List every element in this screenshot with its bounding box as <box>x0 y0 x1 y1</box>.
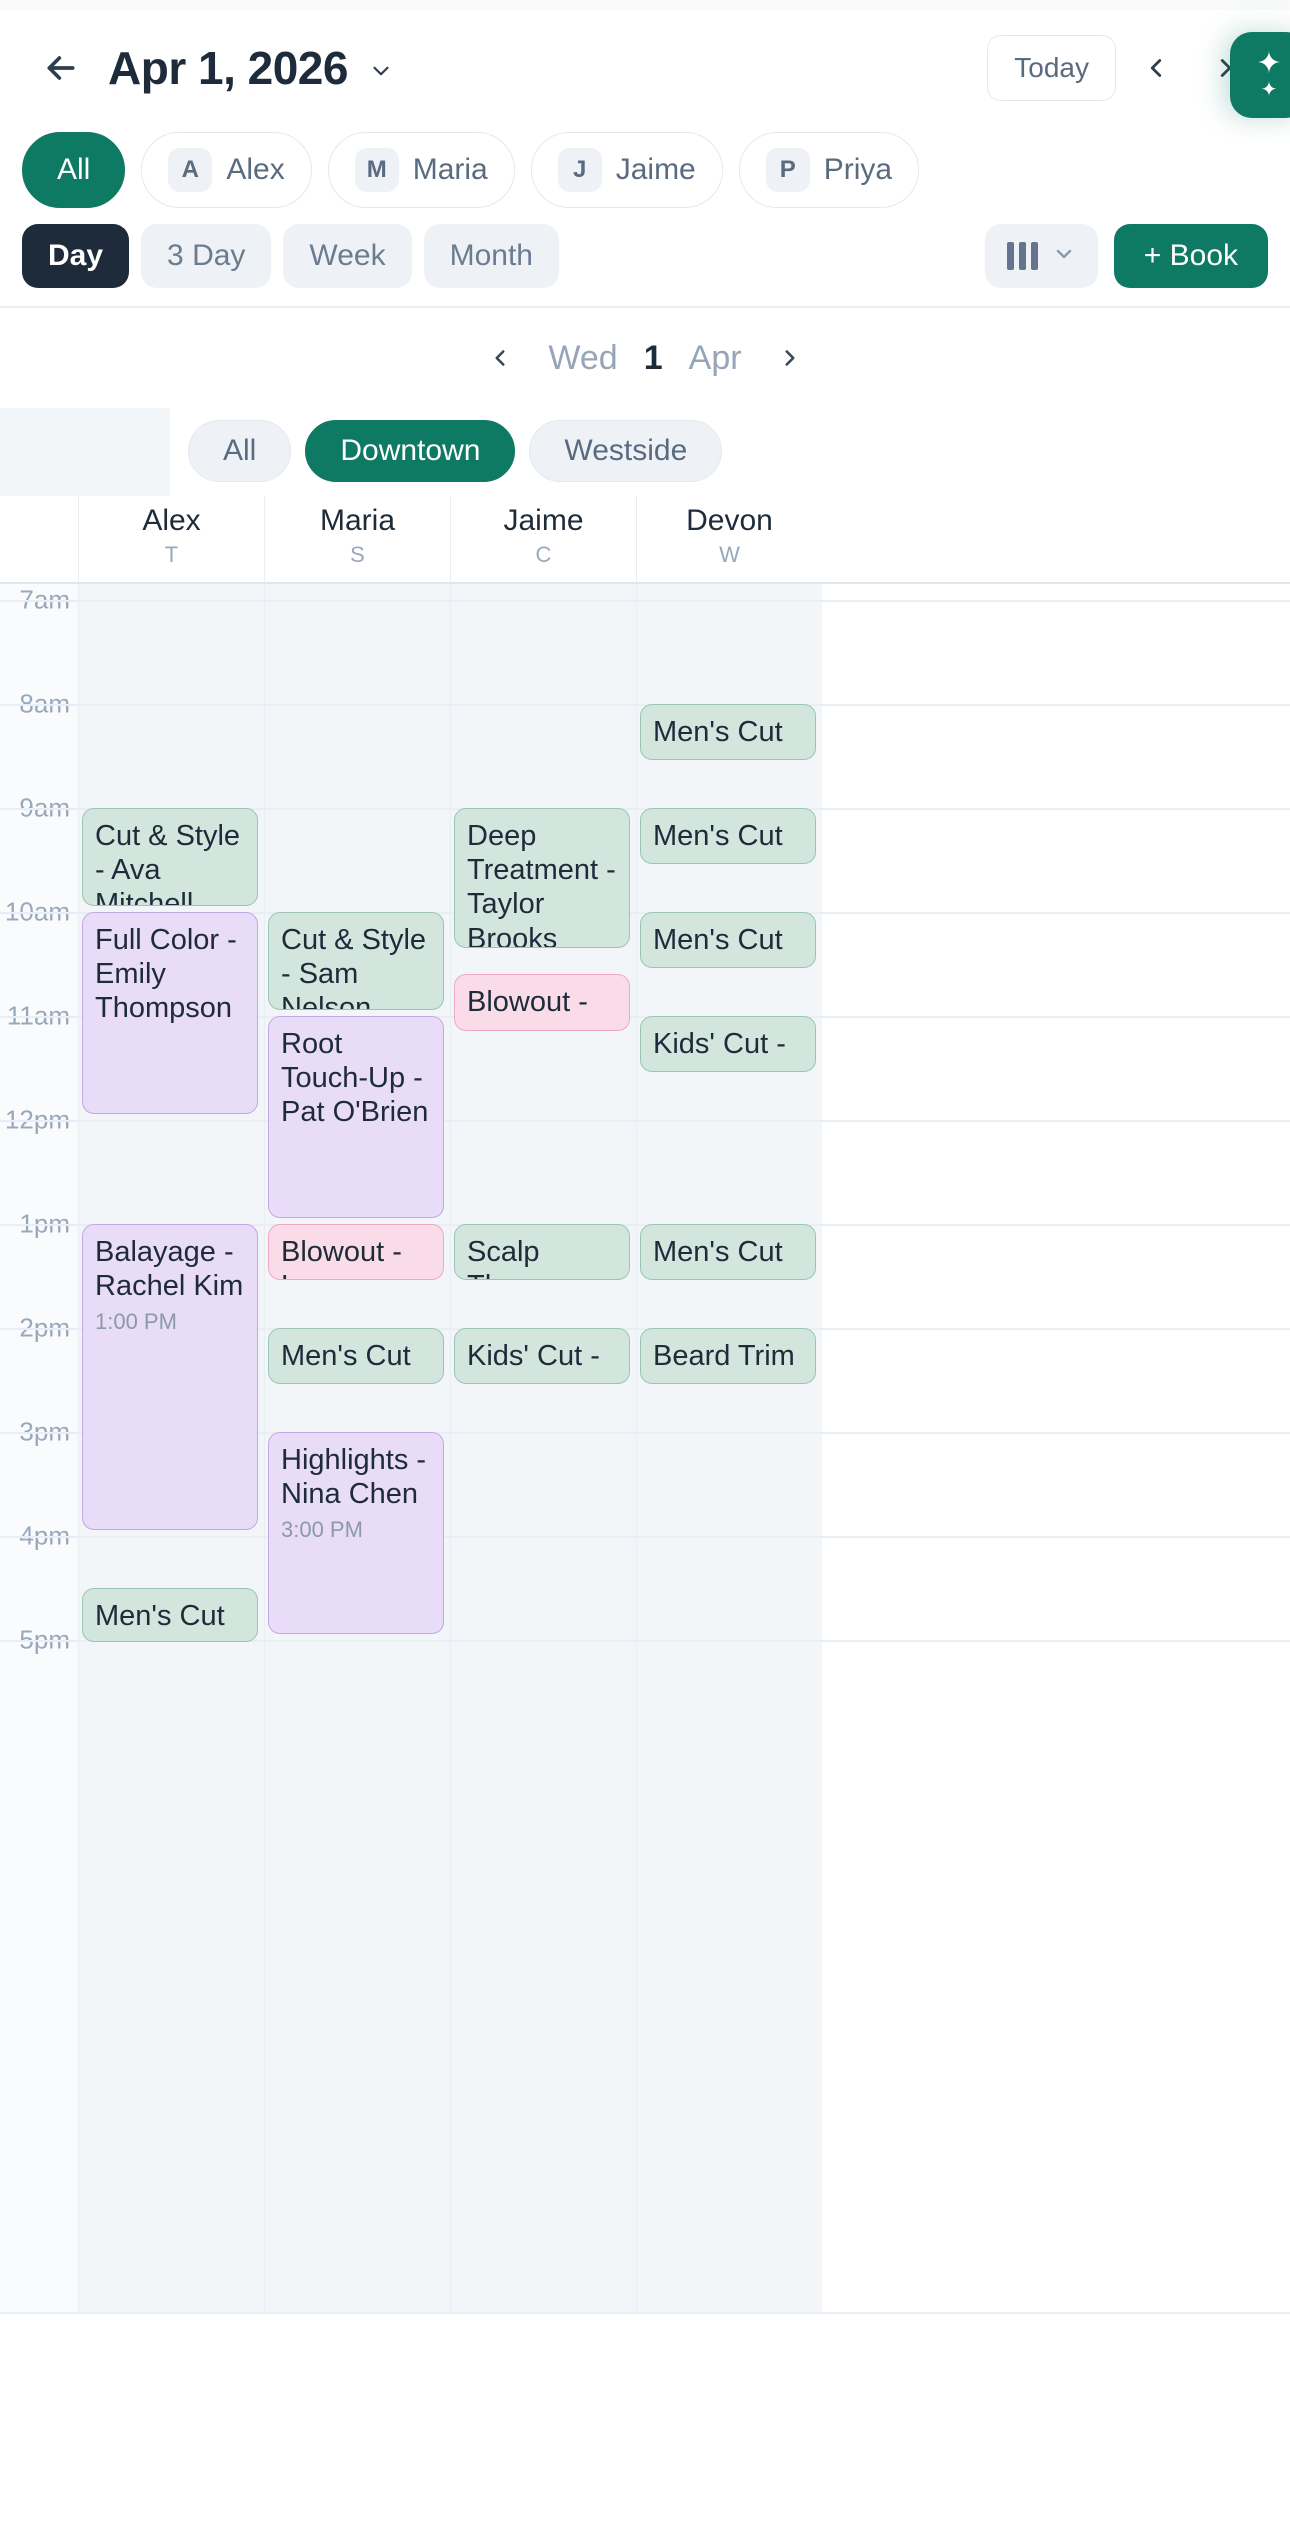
staff-column-headers: Alex T Maria S Jaime C Devon W <box>0 496 1290 584</box>
sparkles-icon[interactable]: ✦ ✦ <box>1230 32 1290 118</box>
calendar-app: Apr 1, 2026 Today ✦ ✦ All A Alex M <box>0 0 1290 2532</box>
appointment-title: Cut & Style - Sam Nelson <box>281 923 431 1010</box>
appointment-card[interactable]: Root Touch-Up - Pat O'Brien <box>268 1016 444 1218</box>
appointment-card[interactable]: Blowout - L... <box>268 1224 444 1280</box>
appointment-title: Beard Trim ... <box>653 1339 803 1384</box>
day-weekday: Wed <box>548 339 617 378</box>
view-actions: + Book <box>985 224 1268 288</box>
time-grid[interactable]: 7am8am9am10am11am12pm1pm2pm3pm4pm5pm Cut… <box>0 584 1290 2314</box>
appointment-title: Men's Cut -... <box>95 1599 245 1642</box>
appointment-card[interactable]: Deep Treatment - Taylor Brooks <box>454 808 630 948</box>
day-month: Apr <box>689 339 742 378</box>
appointment-title: Blowout - L... <box>281 1235 431 1280</box>
column-name: Alex <box>79 504 264 538</box>
appointment-card[interactable]: Men's Cut -... <box>640 808 816 864</box>
column-header-jaime[interactable]: Jaime C <box>450 496 636 582</box>
calendar-grid-wrap: All Downtown Westside Alex T Maria S Jai… <box>0 408 1290 2314</box>
location-filter-row: All Downtown Westside <box>0 408 1290 496</box>
column-role: C <box>451 542 636 568</box>
hour-gridline <box>0 600 1290 602</box>
sparkle-large: ✦ <box>1256 52 1281 76</box>
appointment-title: Blowout - ... <box>467 985 617 1030</box>
prev-day-icon[interactable] <box>478 336 522 380</box>
column-name: Jaime <box>451 504 636 538</box>
appointment-time: 1:00 PM <box>95 1309 245 1335</box>
staff-chip-priya[interactable]: P Priya <box>739 132 919 208</box>
avatar-initial: J <box>558 148 602 192</box>
appointment-card[interactable]: Men's Cut -... <box>640 1224 816 1280</box>
chevron-left-icon[interactable] <box>1126 38 1186 98</box>
appointment-card[interactable]: Men's Cut -... <box>82 1588 258 1642</box>
appointment-card[interactable]: Blowout - ... <box>454 974 630 1030</box>
grid-bottom-edge <box>0 2312 1290 2314</box>
column-name: Maria <box>265 504 450 538</box>
staff-chip-label: Jaime <box>616 153 696 187</box>
tab-month[interactable]: Month <box>424 224 559 288</box>
appointment-title: Men's Cut -... <box>653 715 803 760</box>
chevron-down-icon[interactable] <box>368 58 394 84</box>
column-header-maria[interactable]: Maria S <box>264 496 450 582</box>
column-role: W <box>637 542 822 568</box>
hour-gridline <box>0 1536 1290 1538</box>
appointment-title: Kids' Cut - ... <box>653 1027 803 1072</box>
page-title: Apr 1, 2026 <box>108 41 394 95</box>
appointment-card[interactable]: Full Color - Emily Thompson <box>82 912 258 1114</box>
location-all[interactable]: All <box>188 420 291 482</box>
appointment-title: Deep Treatment - Taylor Brooks <box>467 819 617 948</box>
appointment-title: Men's Cut -... <box>653 819 803 864</box>
appointment-title: Scalp Thera... <box>467 1235 617 1280</box>
appointment-card[interactable]: Scalp Thera... <box>454 1224 630 1280</box>
column-header-alex[interactable]: Alex T <box>78 496 264 582</box>
tab-3day[interactable]: 3 Day <box>141 224 271 288</box>
book-button[interactable]: + Book <box>1114 224 1268 288</box>
appointment-title: Cut & Style - Ava Mitchell <box>95 819 245 906</box>
appointment-title: Root Touch-Up - Pat O'Brien <box>281 1027 431 1130</box>
staff-chip-all[interactable]: All <box>22 132 125 208</box>
staff-chip-label: Alex <box>226 153 284 187</box>
next-day-icon[interactable] <box>768 336 812 380</box>
appointment-card[interactable]: Men's Cut -... <box>268 1328 444 1384</box>
appointment-title: Full Color - Emily Thompson <box>95 923 245 1026</box>
appointment-card[interactable]: Men's Cut -... <box>640 912 816 968</box>
avatar-initial: M <box>355 148 399 192</box>
time-gutter: 7am8am9am10am11am12pm1pm2pm3pm4pm5pm <box>0 584 78 2314</box>
appointment-card[interactable]: Men's Cut -... <box>640 704 816 760</box>
staff-chip-label: Priya <box>824 153 892 187</box>
chevron-down-icon <box>1052 242 1076 271</box>
page-title-text: Apr 1, 2026 <box>108 42 348 94</box>
status-strip <box>0 0 1290 10</box>
appointment-title: Men's Cut -... <box>653 1235 803 1280</box>
appointment-title: Balayage - Rachel Kim <box>95 1235 245 1303</box>
columns-selector-button[interactable] <box>985 224 1098 288</box>
appointment-card[interactable]: Balayage - Rachel Kim1:00 PM <box>82 1224 258 1530</box>
column-name: Devon <box>637 504 822 538</box>
staff-chip-jaime[interactable]: J Jaime <box>531 132 723 208</box>
appointment-title: Highlights - Nina Chen <box>281 1443 431 1511</box>
staff-chip-alex[interactable]: A Alex <box>141 132 311 208</box>
location-gutter-spacer <box>0 408 170 496</box>
columns-icon <box>1007 242 1038 270</box>
staff-chip-label: Maria <box>413 153 488 187</box>
column-header-devon[interactable]: Devon W <box>636 496 822 582</box>
app-header: Apr 1, 2026 Today ✦ ✦ <box>0 10 1290 126</box>
day-navigation: Wed 1 Apr <box>0 308 1290 408</box>
appointment-card[interactable]: Beard Trim ... <box>640 1328 816 1384</box>
location-downtown[interactable]: Downtown <box>305 420 515 482</box>
appointment-card[interactable]: Highlights - Nina Chen3:00 PM <box>268 1432 444 1634</box>
day-number: 1 <box>644 339 663 378</box>
time-gutter-header <box>0 496 78 582</box>
avatar-initial: A <box>168 148 212 192</box>
tab-day[interactable]: Day <box>22 224 129 288</box>
appointment-title: Men's Cut -... <box>653 923 803 968</box>
column-role: T <box>79 542 264 568</box>
appointment-time: 3:00 PM <box>281 1517 431 1543</box>
appointment-card[interactable]: Kids' Cut - ... <box>640 1016 816 1072</box>
appointment-title: Kids' Cut - ... <box>467 1339 617 1384</box>
staff-filter-row: All A Alex M Maria J Jaime P Priya <box>0 126 1290 208</box>
appointment-card[interactable]: Cut & Style - Ava Mitchell <box>82 808 258 906</box>
today-button[interactable]: Today <box>987 35 1116 101</box>
appointment-title: Men's Cut -... <box>281 1339 431 1384</box>
appointment-card[interactable]: Cut & Style - Sam Nelson <box>268 912 444 1010</box>
back-arrow-icon[interactable] <box>34 41 88 95</box>
column-role: S <box>265 542 450 568</box>
view-toggle-row: Day 3 Day Week Month + Book <box>0 208 1290 308</box>
sparkle-small: ✦ <box>1261 82 1278 98</box>
staff-chip-maria[interactable]: M Maria <box>328 132 515 208</box>
appointment-card[interactable]: Kids' Cut - ... <box>454 1328 630 1384</box>
avatar-initial: P <box>766 148 810 192</box>
header-actions: Today <box>987 35 1256 101</box>
location-westside[interactable]: Westside <box>529 420 722 482</box>
hour-gridline <box>0 1120 1290 1122</box>
tab-week[interactable]: Week <box>283 224 411 288</box>
